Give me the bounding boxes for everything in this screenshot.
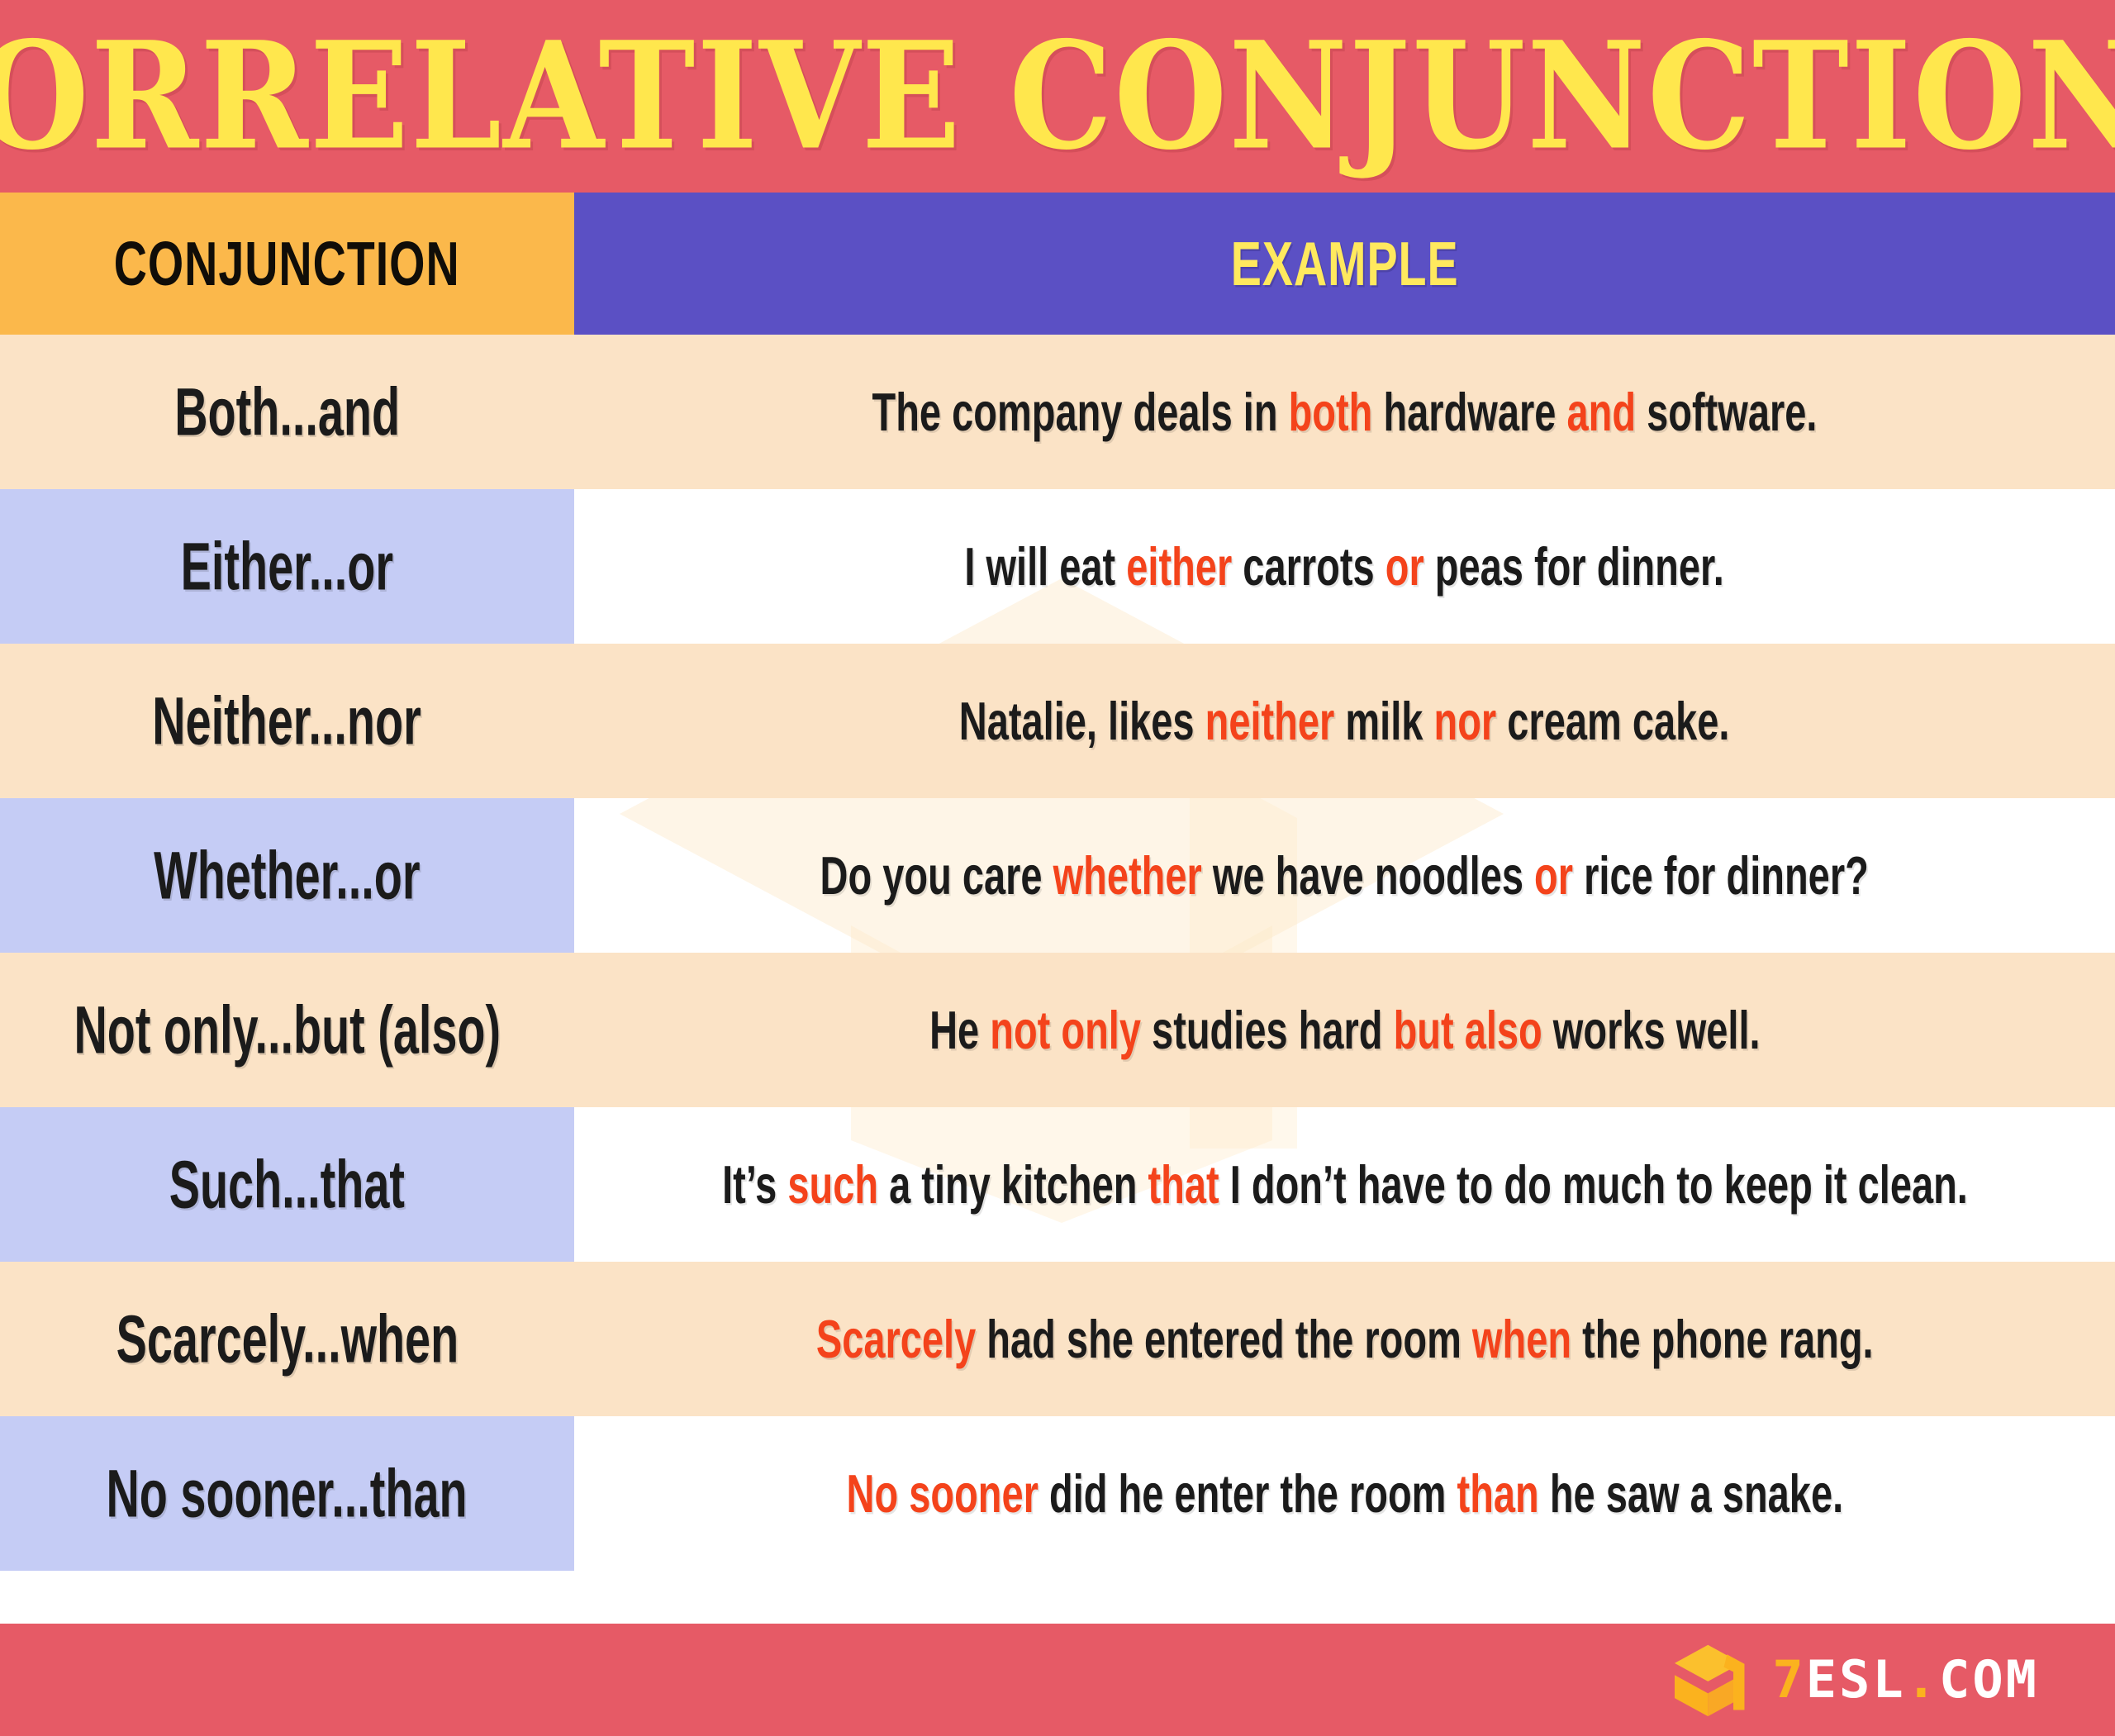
cube-logo-icon xyxy=(1675,1640,1754,1719)
conjunction-label: Scarcely...when xyxy=(116,1301,459,1378)
site-logo[interactable]: 7ESL.COM xyxy=(1675,1640,2039,1719)
example-text: a tiny kitchen xyxy=(878,1154,1148,1215)
table-row: Both...andThe company deals in both hard… xyxy=(0,335,2115,489)
example-keyword: both xyxy=(1289,382,1373,442)
example-keyword: but also xyxy=(1393,1000,1542,1060)
example-sentence: Scarcely had she entered the room when t… xyxy=(816,1308,1874,1370)
example-sentence: No sooner did he enter the room than he … xyxy=(846,1463,1843,1524)
example-text: The company deals in xyxy=(872,382,1289,442)
cell-example: No sooner did he enter the room than he … xyxy=(574,1416,2115,1571)
cell-example: Do you care whether we have noodles or r… xyxy=(574,798,2115,953)
logo-dot: . xyxy=(1906,1649,1939,1710)
cell-conjunction: Not only...but (also) xyxy=(0,953,574,1107)
example-text: works well. xyxy=(1542,1000,1760,1060)
logo-seven: 7 xyxy=(1772,1649,1805,1710)
cell-example: He not only studies hard but also works … xyxy=(574,953,2115,1107)
cell-conjunction: Both...and xyxy=(0,335,574,489)
example-text: carrots xyxy=(1233,536,1385,597)
footer-bar: 7ESL.COM xyxy=(0,1624,2115,1736)
example-keyword: or xyxy=(1385,536,1424,597)
example-keyword: whether xyxy=(1053,845,1202,906)
cell-conjunction: Either...or xyxy=(0,489,574,644)
example-text: milk xyxy=(1335,691,1434,751)
example-sentence: He not only studies hard but also works … xyxy=(929,999,1760,1061)
example-text: did he enter the room xyxy=(1038,1463,1457,1524)
example-keyword: either xyxy=(1127,536,1233,597)
example-text: hardware xyxy=(1372,382,1566,442)
example-text: studies hard xyxy=(1141,1000,1394,1060)
conjunction-label: No sooner...than xyxy=(107,1455,468,1533)
cell-conjunction: Whether...or xyxy=(0,798,574,953)
logo-esl: ESL xyxy=(1806,1649,1906,1710)
example-text: rice for dinner? xyxy=(1573,845,1869,906)
example-text: I don’t have to do much to keep it clean… xyxy=(1219,1154,1967,1215)
table-body: Both...andThe company deals in both hard… xyxy=(0,335,2115,1571)
conjunction-label: Not only...but (also) xyxy=(74,992,501,1069)
example-text: Do you care xyxy=(820,845,1053,906)
title-banner: CORRELATIVE CONJUNCTIONS xyxy=(0,0,2115,193)
example-text: cream cake. xyxy=(1497,691,1730,751)
example-text: peas for dinner. xyxy=(1424,536,1724,597)
example-keyword: No sooner xyxy=(846,1463,1038,1524)
table-row: Scarcely...whenScarcely had she entered … xyxy=(0,1262,2115,1416)
example-text: Natalie, likes xyxy=(959,691,1205,751)
logo-com: COM xyxy=(1939,1649,2039,1710)
cell-conjunction: No sooner...than xyxy=(0,1416,574,1571)
example-keyword: than xyxy=(1457,1463,1538,1524)
example-keyword: nor xyxy=(1434,691,1497,751)
example-sentence: It’s such a tiny kitchen that I don’t ha… xyxy=(722,1153,1968,1215)
conjunction-label: Whether...or xyxy=(154,837,420,915)
cell-conjunction: Scarcely...when xyxy=(0,1262,574,1416)
example-text: had she entered the room xyxy=(976,1309,1472,1369)
header-cell-conjunction: CONJUNCTION xyxy=(0,193,574,335)
table-header-row: CONJUNCTION EXAMPLE xyxy=(0,193,2115,335)
cell-conjunction: Neither...nor xyxy=(0,644,574,798)
example-text: He xyxy=(929,1000,990,1060)
conjunction-label: Either...or xyxy=(181,528,393,606)
cell-example: The company deals in both hardware and s… xyxy=(574,335,2115,489)
infographic-poster: CORRELATIVE CONJUNCTIONS CONJUNCTION EXA… xyxy=(0,0,2115,1736)
cell-example: Scarcely had she entered the room when t… xyxy=(574,1262,2115,1416)
example-sentence: I will eat either carrots or peas for di… xyxy=(965,535,1724,597)
table-row: Such...thatIt’s such a tiny kitchen that… xyxy=(0,1107,2115,1262)
table-row: Whether...orDo you care whether we have … xyxy=(0,798,2115,953)
conjunctions-table: CONJUNCTION EXAMPLE Both...andThe compan… xyxy=(0,193,2115,1571)
example-keyword: not only xyxy=(990,1000,1141,1060)
example-keyword: or xyxy=(1534,845,1573,906)
example-text: software. xyxy=(1636,382,1817,442)
example-keyword: neither xyxy=(1205,691,1335,751)
cell-example: Natalie, likes neither milk nor cream ca… xyxy=(574,644,2115,798)
table-row: Neither...norNatalie, likes neither milk… xyxy=(0,644,2115,798)
example-keyword: when xyxy=(1472,1309,1571,1369)
header-label-example: EXAMPLE xyxy=(1231,227,1459,299)
example-sentence: Do you care whether we have noodles or r… xyxy=(820,844,1869,906)
example-text: we have noodles xyxy=(1202,845,1534,906)
table-row: Not only...but (also)He not only studies… xyxy=(0,953,2115,1107)
example-text: I will eat xyxy=(965,536,1127,597)
header-cell-example: EXAMPLE xyxy=(574,193,2115,335)
example-keyword: Scarcely xyxy=(816,1309,976,1369)
example-keyword: and xyxy=(1567,382,1637,442)
logo-wordmark: 7ESL.COM xyxy=(1772,1654,2039,1705)
example-text: It’s xyxy=(722,1154,787,1215)
cell-conjunction: Such...that xyxy=(0,1107,574,1262)
conjunction-label: Neither...nor xyxy=(153,683,422,760)
example-keyword: that xyxy=(1148,1154,1219,1215)
example-text: the phone rang. xyxy=(1571,1309,1874,1369)
table-row: No sooner...thanNo sooner did he enter t… xyxy=(0,1416,2115,1571)
table-row: Either...orI will eat either carrots or … xyxy=(0,489,2115,644)
example-sentence: The company deals in both hardware and s… xyxy=(872,381,1818,443)
cell-example: It’s such a tiny kitchen that I don’t ha… xyxy=(574,1107,2115,1262)
conjunction-label: Both...and xyxy=(174,373,400,451)
example-sentence: Natalie, likes neither milk nor cream ca… xyxy=(959,690,1730,752)
header-label-conjunction: CONJUNCTION xyxy=(114,227,460,299)
cell-example: I will eat either carrots or peas for di… xyxy=(574,489,2115,644)
example-text: he saw a snake. xyxy=(1538,1463,1842,1524)
conjunction-label: Such...that xyxy=(169,1146,405,1224)
page-title: CORRELATIVE CONJUNCTIONS xyxy=(0,22,2115,170)
example-keyword: such xyxy=(787,1154,878,1215)
